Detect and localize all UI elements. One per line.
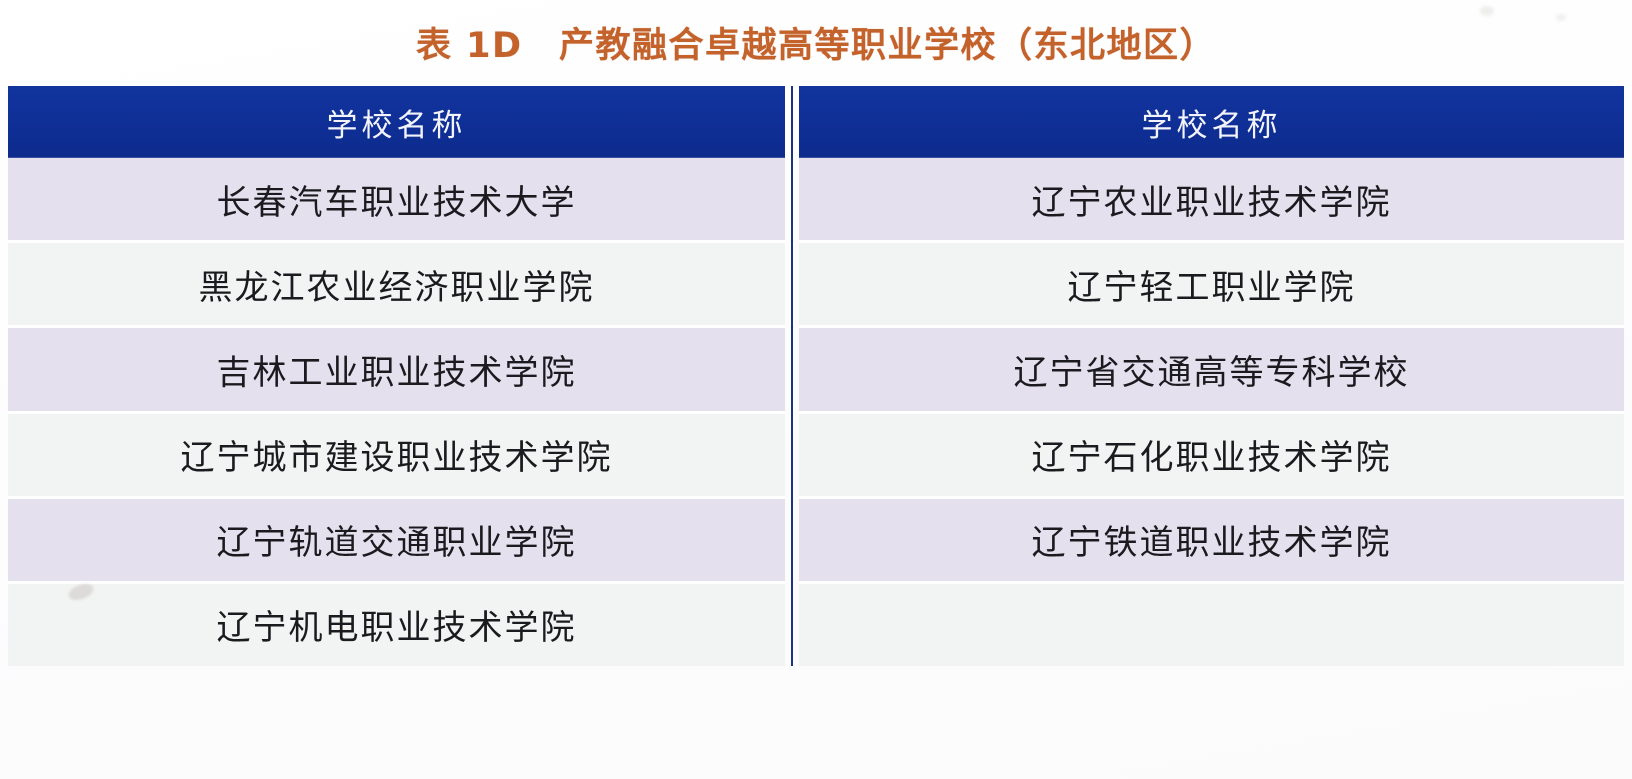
table-row-empty xyxy=(799,584,1624,666)
table-row: 长春汽车职业技术大学 xyxy=(8,158,785,243)
table-row: 辽宁城市建设职业技术学院 xyxy=(8,414,785,499)
schools-table: 学校名称 长春汽车职业技术大学 黑龙江农业经济职业学院 吉林工业职业技术学院 辽… xyxy=(8,86,1624,666)
table-rows-right: 辽宁农业职业技术学院 辽宁轻工职业学院 辽宁省交通高等专科学校 辽宁石化职业技术… xyxy=(799,158,1624,666)
table-row: 辽宁轨道交通职业学院 xyxy=(8,499,785,584)
table-row: 辽宁轻工职业学院 xyxy=(799,243,1624,328)
column-divider xyxy=(785,86,799,666)
column-header-right: 学校名称 xyxy=(799,86,1624,158)
table-row: 辽宁省交通高等专科学校 xyxy=(799,328,1624,413)
table-rows-left: 长春汽车职业技术大学 黑龙江农业经济职业学院 吉林工业职业技术学院 辽宁城市建设… xyxy=(8,158,785,666)
table-row: 辽宁机电职业技术学院 xyxy=(8,584,785,666)
table-title: 表 1D 产教融合卓越高等职业学校（东北地区） xyxy=(0,0,1632,84)
table-row: 黑龙江农业经济职业学院 xyxy=(8,243,785,328)
column-header-left: 学校名称 xyxy=(8,86,785,158)
table-row: 吉林工业职业技术学院 xyxy=(8,328,785,413)
table-column-right: 学校名称 辽宁农业职业技术学院 辽宁轻工职业学院 辽宁省交通高等专科学校 辽宁石… xyxy=(799,86,1624,666)
table-column-left: 学校名称 长春汽车职业技术大学 黑龙江农业经济职业学院 吉林工业职业技术学院 辽… xyxy=(8,86,785,666)
table-row: 辽宁铁道职业技术学院 xyxy=(799,499,1624,584)
table-row: 辽宁农业职业技术学院 xyxy=(799,158,1624,243)
table-row: 辽宁石化职业技术学院 xyxy=(799,414,1624,499)
table-title-text: 表 1D 产教融合卓越高等职业学校（东北地区） xyxy=(416,17,1216,68)
